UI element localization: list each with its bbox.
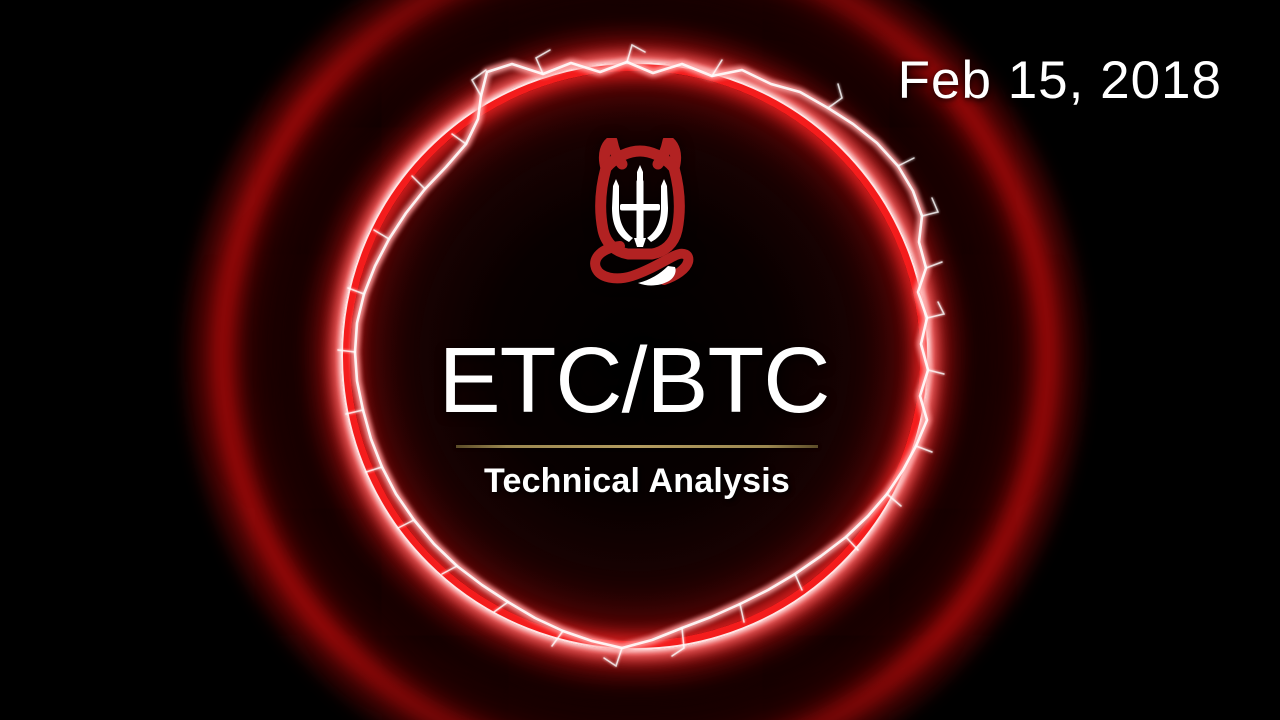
center-content: ETC/BTC Technical Analysis [0,0,1280,720]
page-subtitle: Technical Analysis [484,462,790,501]
title-card-canvas: Feb 15, 2018 [0,0,1280,720]
page-title: ETC/BTC [439,334,830,427]
gold-divider [456,445,818,448]
devil-head-trident-logo [576,138,704,290]
